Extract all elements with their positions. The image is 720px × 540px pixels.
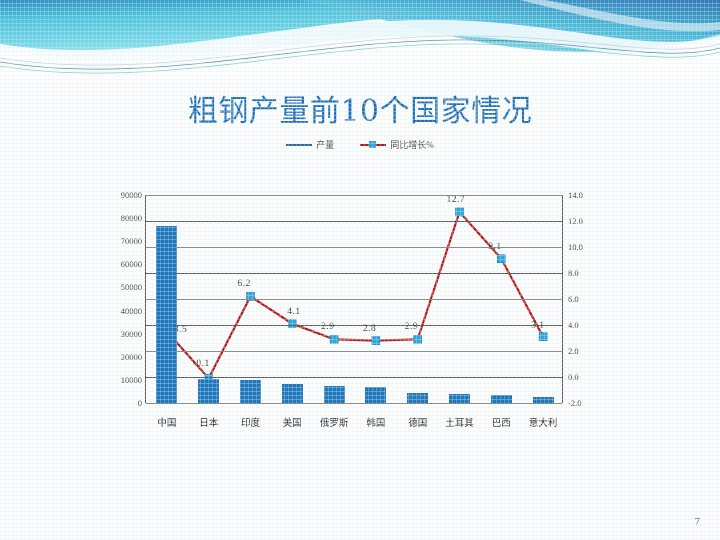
- chart-gridline: [146, 351, 562, 352]
- chart-gridline: [146, 299, 562, 300]
- combo-chart: 0100002000030000400005000060000700008000…: [110, 185, 610, 410]
- slide-canvas: 粗钢产量前10个国家情况 产量 同比增长% 010000200003000040…: [0, 0, 720, 540]
- legend-item-growth[interactable]: 同比增长%: [360, 138, 434, 151]
- x-axis-category-label: 意大利: [522, 415, 564, 429]
- left-axis-tick-label: 80000: [121, 214, 142, 223]
- chart-bar: [324, 386, 345, 403]
- growth-data-label: 2.9: [321, 322, 334, 332]
- right-axis-tick-label: 6.0: [568, 295, 579, 304]
- x-axis-category-label: 美国: [271, 415, 313, 429]
- right-axis-tick-label: -2.0: [568, 399, 581, 408]
- right-y-axis-labels: -2.00.02.04.06.08.010.012.014.0: [565, 195, 605, 403]
- right-axis-tick-label: 10.0: [568, 243, 583, 252]
- growth-data-marker: [497, 255, 505, 263]
- growth-data-marker: [330, 335, 338, 343]
- chart-bar: [533, 397, 554, 403]
- left-axis-tick-label: 50000: [121, 283, 142, 292]
- chart-gridline: [146, 273, 562, 274]
- growth-data-marker: [456, 208, 464, 216]
- right-axis-tick-label: 12.0: [568, 217, 583, 226]
- growth-data-label: 2.8: [363, 324, 376, 334]
- right-axis-tick-label: 4.0: [568, 321, 579, 330]
- x-axis-category-label: 俄罗斯: [313, 415, 355, 429]
- growth-data-marker: [288, 320, 296, 328]
- growth-data-marker: [414, 335, 422, 343]
- legend-key-line-icon: [286, 140, 312, 150]
- growth-data-marker: [372, 337, 380, 345]
- legend-item-production[interactable]: 产量: [286, 138, 334, 151]
- growth-data-label: -0.1: [193, 359, 210, 369]
- left-axis-tick-label: 20000: [121, 353, 142, 362]
- left-axis-tick-label: 60000: [121, 260, 142, 269]
- chart-bar: [282, 384, 303, 403]
- growth-line-path: [167, 212, 543, 378]
- right-axis-tick-label: 0.0: [568, 373, 579, 382]
- legend-key-line-marker-icon: [360, 140, 386, 150]
- wave-banner-graphic: [0, 0, 720, 80]
- left-axis-tick-label: 10000: [121, 376, 142, 385]
- chart-legend: 产量 同比增长%: [0, 138, 720, 151]
- page-title: 粗钢产量前10个国家情况: [0, 86, 720, 130]
- chart-gridline: [146, 403, 562, 404]
- x-axis-category-label: 印度: [230, 415, 272, 429]
- chart-bar: [198, 379, 219, 403]
- chart-gridline: [146, 377, 562, 378]
- right-axis-tick-label: 2.0: [568, 347, 579, 356]
- left-axis-tick-label: 90000: [121, 191, 142, 200]
- chart-plot-area: 中国日本印度美国俄罗斯韩国德国土耳其巴西意大利3.5-0.16.24.12.92…: [145, 195, 563, 403]
- x-axis-category-label: 巴西: [480, 415, 522, 429]
- right-axis-tick-label: 8.0: [568, 269, 579, 278]
- growth-data-label: 12.7: [447, 195, 466, 205]
- chart-bar: [491, 395, 512, 403]
- growth-data-marker: [539, 333, 547, 341]
- left-axis-tick-label: 40000: [121, 307, 142, 316]
- legend-label-growth: 同比增长%: [390, 138, 434, 151]
- x-axis-category-label: 韩国: [355, 415, 397, 429]
- growth-data-label: 2.9: [405, 322, 418, 332]
- chart-gridline: [146, 195, 562, 196]
- growth-data-label: 6.2: [238, 279, 251, 289]
- chart-bar: [240, 380, 261, 403]
- x-axis-category-label: 土耳其: [439, 415, 481, 429]
- chart-bar: [365, 387, 386, 403]
- x-axis-category-label: 日本: [188, 415, 230, 429]
- chart-bar: [449, 394, 470, 403]
- chart-bar: [407, 393, 428, 403]
- growth-data-label: 9.1: [488, 242, 501, 252]
- chart-gridline: [146, 221, 562, 222]
- legend-label-production: 产量: [316, 138, 334, 151]
- page-number: 7: [695, 516, 701, 528]
- growth-data-label: 3.1: [531, 321, 544, 331]
- x-axis-category-label: 德国: [397, 415, 439, 429]
- left-axis-tick-label: 70000: [121, 237, 142, 246]
- left-axis-tick-label: 30000: [121, 330, 142, 339]
- right-axis-tick-label: 14.0: [568, 191, 583, 200]
- chart-gridline: [146, 325, 562, 326]
- left-y-axis-labels: 0100002000030000400005000060000700008000…: [110, 195, 144, 403]
- chart-bar: [156, 226, 177, 403]
- growth-data-label: 4.1: [287, 307, 300, 317]
- left-axis-tick-label: 0: [138, 399, 142, 408]
- growth-data-label: 3.5: [174, 325, 187, 335]
- x-axis-category-label: 中国: [146, 415, 188, 429]
